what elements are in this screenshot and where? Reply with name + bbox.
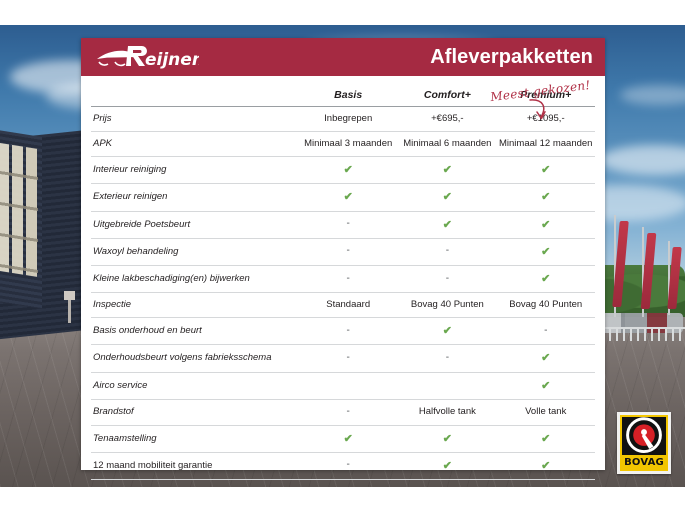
check-icon: ✔ xyxy=(344,432,353,446)
feature-label: 12 maand mobiliteit garantie xyxy=(91,452,298,479)
check-icon: ✔ xyxy=(344,190,353,204)
cell-premium: ✔ xyxy=(496,238,595,265)
table-row: 12 maand mobiliteit garantie-✔✔ xyxy=(91,452,595,479)
table-row: Tenaamstelling✔✔✔ xyxy=(91,425,595,452)
cell-premium: Bovag 40 Punten xyxy=(496,293,595,318)
table-row: Basis onderhoud en beurt-✔- xyxy=(91,318,595,345)
cell-basis: ✔ xyxy=(298,157,398,184)
dash-icon: - xyxy=(347,352,350,365)
check-icon: ✔ xyxy=(541,218,550,232)
check-icon: ✔ xyxy=(541,272,550,286)
check-icon: ✔ xyxy=(541,459,550,473)
dash-icon: - xyxy=(544,325,547,338)
cell-comfort: ✔ xyxy=(398,425,496,452)
cell-basis: Minimaal 3 maanden xyxy=(298,132,398,157)
table-row: Brandstof-Halfvolle tankVolle tank xyxy=(91,399,595,425)
cell-premium: - xyxy=(496,318,595,345)
cell-premium: Minimaal 12 maanden xyxy=(496,132,595,157)
cell-basis: ✔ xyxy=(298,425,398,452)
check-icon: ✔ xyxy=(443,163,452,177)
dash-icon: - xyxy=(347,459,350,472)
cell-comfort: ✔ xyxy=(398,452,496,479)
cell-premium: ✔ xyxy=(496,425,595,452)
check-icon: ✔ xyxy=(443,432,452,446)
cell-premium: +€1095,- xyxy=(496,107,595,132)
svg-text:eijnen: eijnen xyxy=(145,50,199,70)
dash-icon: - xyxy=(347,325,350,338)
feature-label: APK xyxy=(91,132,298,157)
feature-label: Onderhoudsbeurt volgens fabrieksschema xyxy=(91,345,298,372)
table-row: PrijsInbegrepen+€695,-+€1095,- xyxy=(91,107,595,132)
cell-comfort: Halfvolle tank xyxy=(398,399,496,425)
feature-label: Airco service xyxy=(91,372,298,399)
cell-comfort: ✔ xyxy=(398,184,496,211)
cell-premium: ✔ xyxy=(496,157,595,184)
bovag-badge: BOVAG xyxy=(617,412,671,474)
cell-premium: ✔ xyxy=(496,345,595,372)
table-row: Waxoyl behandeling--✔ xyxy=(91,238,595,265)
check-icon: ✔ xyxy=(443,324,452,338)
table-head: Basis Comfort+ Premium+ xyxy=(91,76,595,107)
table-row: Uitgebreide Poetsbeurt-✔✔ xyxy=(91,211,595,238)
cell-comfort: - xyxy=(398,238,496,265)
dash-icon: - xyxy=(446,352,449,365)
check-icon: ✔ xyxy=(541,190,550,204)
table-row: Onderhoudsbeurt volgens fabrieksschema--… xyxy=(91,345,595,372)
cell-premium: ✔ xyxy=(496,372,595,399)
reijnen-logo[interactable]: eijnen xyxy=(95,42,199,72)
column-header-feature xyxy=(91,76,298,107)
cell-premium: Volle tank xyxy=(496,399,595,425)
top-white-band xyxy=(0,0,685,25)
table-body: PrijsInbegrepen+€695,-+€1095,-APKMinimaa… xyxy=(91,107,595,505)
page-title: Afleverpakketten xyxy=(430,46,593,69)
feature-label: Waxoyl behandeling xyxy=(91,238,298,265)
cell-basis: - xyxy=(298,345,398,372)
cell-comfort: +€695,- xyxy=(398,107,496,132)
cell-basis: Inbegrepen xyxy=(298,107,398,132)
package-comparison-table: Basis Comfort+ Premium+ PrijsInbegrepen+… xyxy=(91,76,595,505)
table-row: Kleine lakbeschadiging(en) bijwerken--✔ xyxy=(91,265,595,292)
cell-comfort: - xyxy=(398,345,496,372)
comparison-table-wrap: Basis Comfort+ Premium+ PrijsInbegrepen+… xyxy=(81,76,605,505)
table-row: Exterieur reinigen✔✔✔ xyxy=(91,184,595,211)
dash-icon: - xyxy=(347,406,350,419)
feature-label: Tenaamstelling xyxy=(91,425,298,452)
window-mullions xyxy=(0,142,38,277)
cell-comfort xyxy=(398,372,496,399)
dash-icon: - xyxy=(347,273,350,286)
table-row: Interieur reiniging✔✔✔ xyxy=(91,157,595,184)
feature-label: Basis onderhoud en beurt xyxy=(91,318,298,345)
bovag-inner: BOVAG xyxy=(620,415,668,471)
column-header-comfort: Comfort+ xyxy=(398,76,496,107)
cell-basis: ✔ xyxy=(298,184,398,211)
column-header-basis: Basis xyxy=(298,76,398,107)
table-row: InspectieStandaardBovag 40 PuntenBovag 4… xyxy=(91,293,595,318)
column-header-premium: Premium+ xyxy=(496,76,595,107)
cell-premium: ✔ xyxy=(496,211,595,238)
cell-basis: - xyxy=(298,452,398,479)
sign-post xyxy=(68,297,71,323)
cell-premium: ✔ xyxy=(496,452,595,479)
cell-basis: Standaard xyxy=(298,293,398,318)
dash-icon: - xyxy=(347,218,350,231)
check-icon: ✔ xyxy=(541,351,550,365)
feature-label: Kleine lakbeschadiging(en) bijwerken xyxy=(91,265,298,292)
feature-label: Inspectie xyxy=(91,293,298,318)
card-header: eijnen Afleverpakketten xyxy=(81,38,605,76)
cell-basis: - xyxy=(298,211,398,238)
check-icon: ✔ xyxy=(541,245,550,259)
check-icon: ✔ xyxy=(443,190,452,204)
cell-basis: - xyxy=(298,399,398,425)
feature-label: Brandstof xyxy=(91,399,298,425)
cell-comfort: Minimaal 6 maanden xyxy=(398,132,496,157)
cell-comfort: ✔ xyxy=(398,318,496,345)
check-icon: ✔ xyxy=(443,218,452,232)
check-icon: ✔ xyxy=(344,163,353,177)
bottom-white-band xyxy=(0,487,685,514)
bovag-label: BOVAG xyxy=(622,455,666,469)
cell-basis: - xyxy=(298,318,398,345)
feature-label: Prijs xyxy=(91,107,298,132)
cell-comfort: ✔ xyxy=(398,211,496,238)
cell-comfort: ✔ xyxy=(398,157,496,184)
table-row: Airco service✔ xyxy=(91,372,595,399)
cell-premium: ✔ xyxy=(496,184,595,211)
check-icon: ✔ xyxy=(443,459,452,473)
cell-comfort: - xyxy=(398,265,496,292)
cell-basis: - xyxy=(298,265,398,292)
afleverpakketten-card: eijnen Afleverpakketten Basis Comfort+ P… xyxy=(81,38,605,470)
dash-icon: - xyxy=(347,245,350,258)
check-icon: ✔ xyxy=(541,379,550,393)
dash-icon: - xyxy=(446,273,449,286)
header-row: Basis Comfort+ Premium+ xyxy=(91,76,595,107)
cell-comfort: Bovag 40 Punten xyxy=(398,293,496,318)
check-icon: ✔ xyxy=(541,432,550,446)
table-row: APKMinimaal 3 maandenMinimaal 6 maandenM… xyxy=(91,132,595,157)
check-icon: ✔ xyxy=(541,163,550,177)
dash-icon: - xyxy=(446,245,449,258)
feature-label: Uitgebreide Poetsbeurt xyxy=(91,211,298,238)
cell-basis: - xyxy=(298,238,398,265)
feature-label: Exterieur reinigen xyxy=(91,184,298,211)
feature-label: Interieur reiniging xyxy=(91,157,298,184)
bovag-mark-icon xyxy=(622,417,666,455)
cell-premium: ✔ xyxy=(496,265,595,292)
cell-basis xyxy=(298,372,398,399)
